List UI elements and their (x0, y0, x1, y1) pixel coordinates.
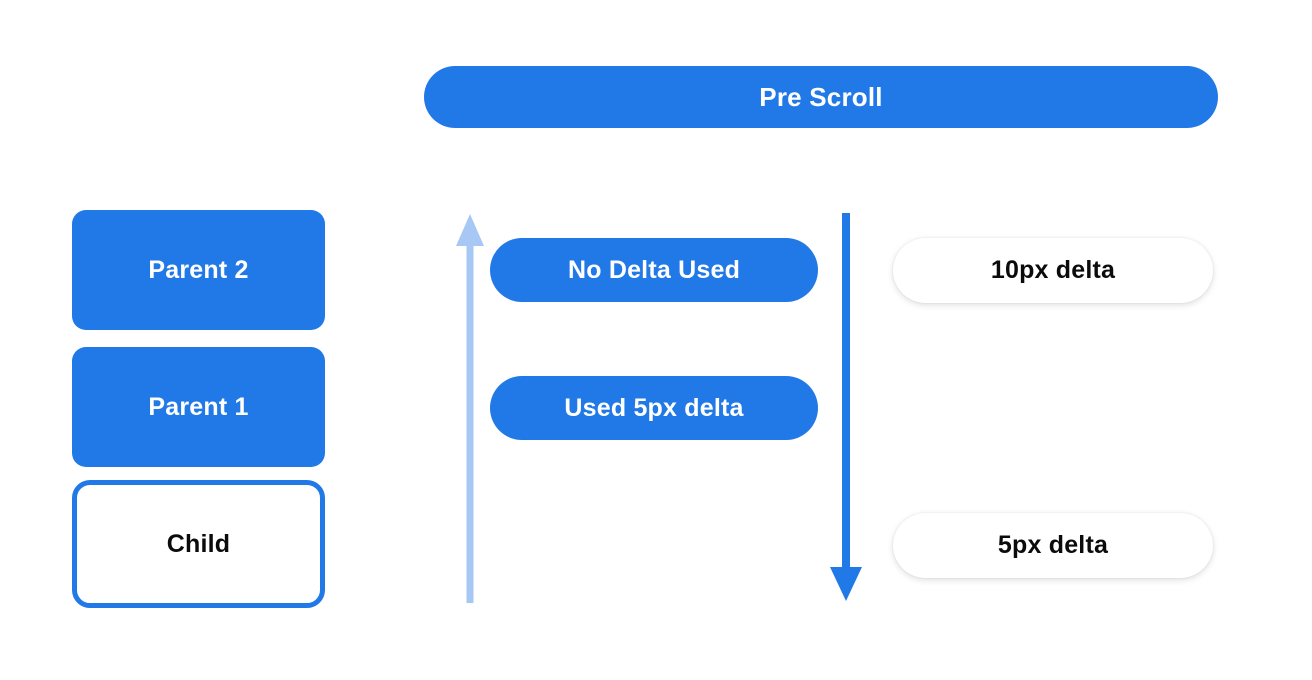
scroll-delta-arrow-down-icon (827, 205, 871, 609)
delta-pill-10px: 10px delta (893, 238, 1213, 303)
delta-pill-10px-label: 10px delta (991, 256, 1115, 285)
consumed-delta-arrow-up-icon (448, 205, 492, 609)
view-box-child-label: Child (167, 530, 231, 559)
pre-scroll-banner: Pre Scroll (424, 66, 1218, 128)
delta-pill-5px: 5px delta (893, 513, 1213, 578)
diagram-canvas: Pre Scroll Parent 2 Parent 1 Child No De… (0, 0, 1312, 680)
view-box-parent-1: Parent 1 (72, 347, 325, 467)
view-box-parent-2: Parent 2 (72, 210, 325, 330)
view-box-parent-2-label: Parent 2 (148, 256, 248, 285)
consumption-pill-no-delta-used-label: No Delta Used (568, 256, 740, 285)
pre-scroll-banner-label: Pre Scroll (759, 82, 882, 113)
view-box-child: Child (72, 480, 325, 608)
consumption-pill-used-5px-delta: Used 5px delta (490, 376, 818, 440)
view-box-parent-1-label: Parent 1 (148, 393, 248, 422)
delta-pill-5px-label: 5px delta (998, 531, 1108, 560)
consumption-pill-no-delta-used: No Delta Used (490, 238, 818, 302)
consumption-pill-used-5px-delta-label: Used 5px delta (564, 394, 743, 423)
